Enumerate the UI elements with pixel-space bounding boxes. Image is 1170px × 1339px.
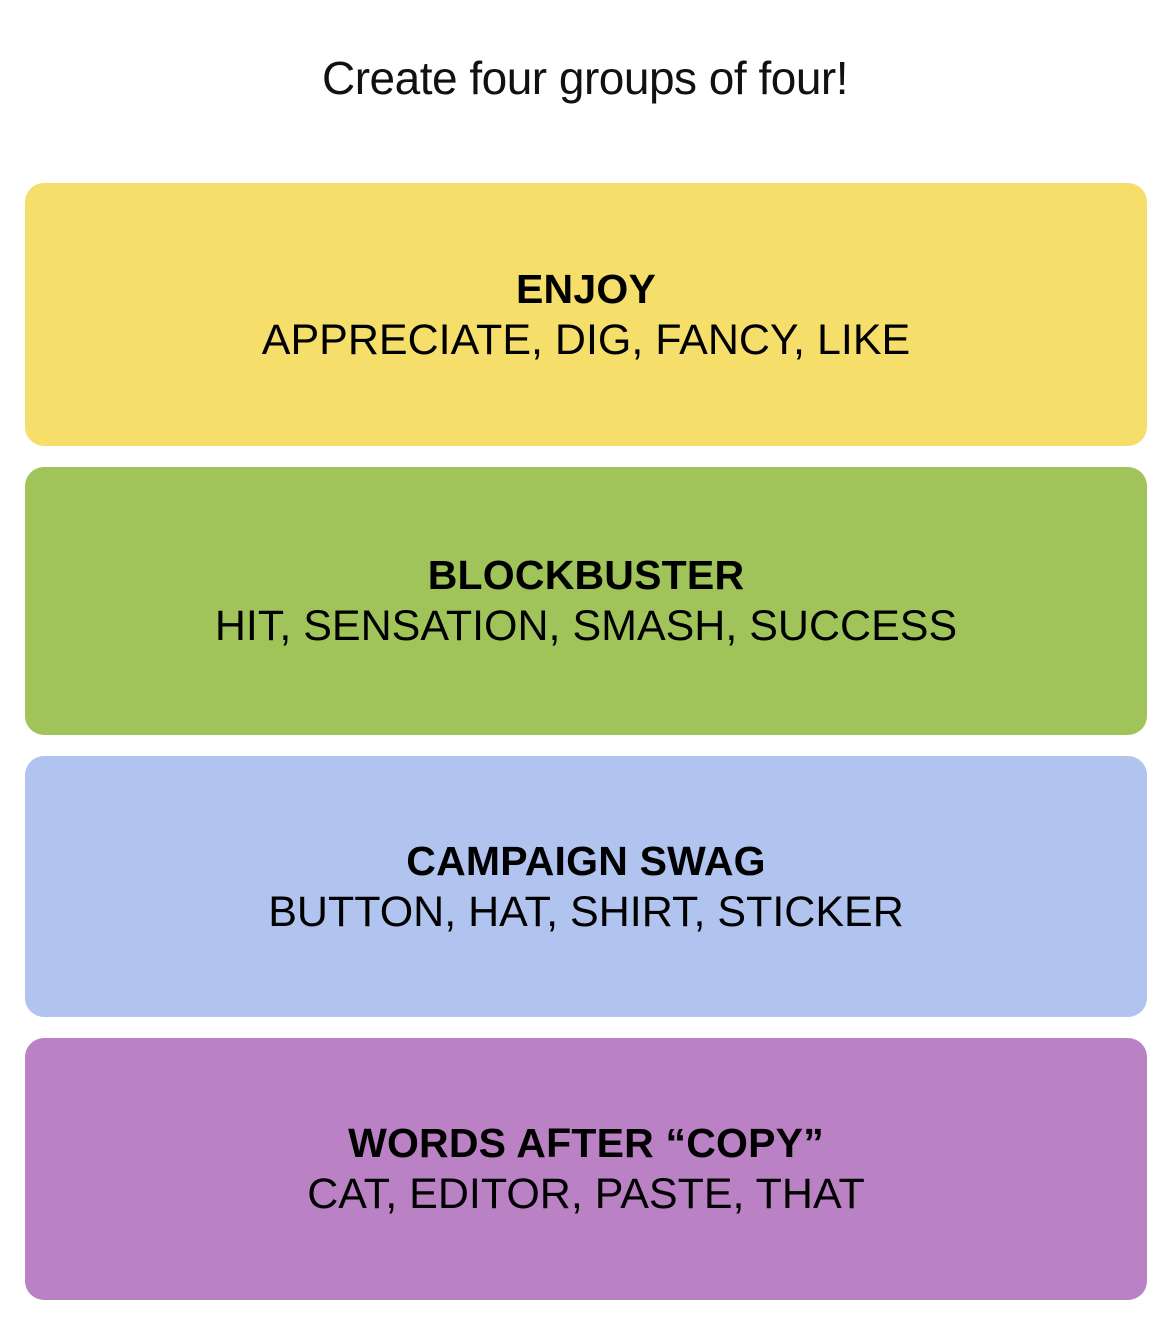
group-card-purple[interactable]: WORDS AFTER “COPY” CAT, EDITOR, PASTE, T… bbox=[25, 1038, 1147, 1300]
group-words-label: CAT, EDITOR, PASTE, THAT bbox=[307, 1169, 865, 1219]
group-words-label: APPRECIATE, DIG, FANCY, LIKE bbox=[262, 315, 910, 365]
group-words-label: HIT, SENSATION, SMASH, SUCCESS bbox=[215, 601, 957, 651]
group-card-green[interactable]: BLOCKBUSTER HIT, SENSATION, SMASH, SUCCE… bbox=[25, 467, 1147, 735]
group-card-blue[interactable]: CAMPAIGN SWAG BUTTON, HAT, SHIRT, STICKE… bbox=[25, 756, 1147, 1017]
solved-groups-list: ENJOY APPRECIATE, DIG, FANCY, LIKE BLOCK… bbox=[25, 183, 1147, 1300]
group-category-label: ENJOY bbox=[516, 265, 656, 313]
group-card-yellow[interactable]: ENJOY APPRECIATE, DIG, FANCY, LIKE bbox=[25, 183, 1147, 446]
group-category-label: CAMPAIGN SWAG bbox=[406, 837, 765, 885]
page-title: Create four groups of four! bbox=[0, 52, 1170, 104]
group-words-label: BUTTON, HAT, SHIRT, STICKER bbox=[268, 887, 904, 937]
group-category-label: BLOCKBUSTER bbox=[428, 551, 745, 599]
connections-results-board: Create four groups of four! ENJOY APPREC… bbox=[0, 0, 1170, 1339]
group-category-label: WORDS AFTER “COPY” bbox=[348, 1119, 824, 1167]
